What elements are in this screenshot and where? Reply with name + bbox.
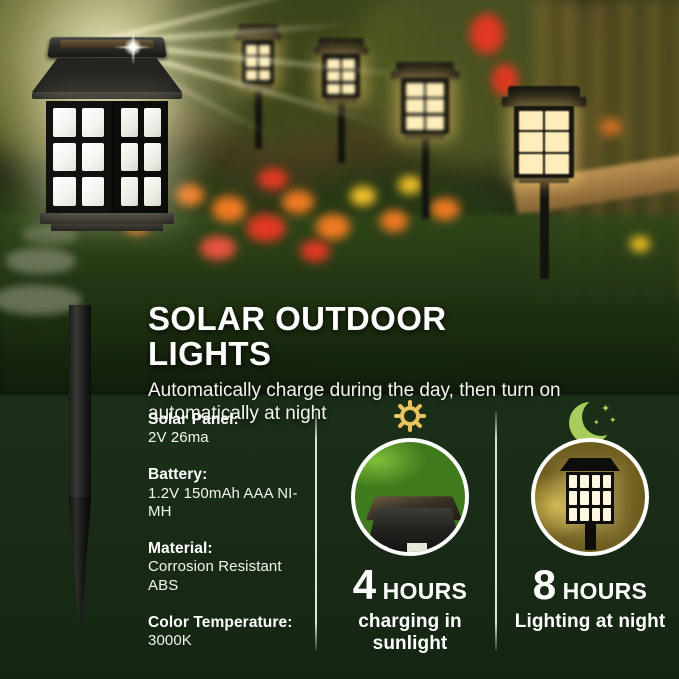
closeup-lantern-roof bbox=[560, 458, 620, 471]
hours-unit: HOURS bbox=[383, 580, 468, 603]
hero-solar-lantern bbox=[32, 36, 182, 231]
flower bbox=[350, 186, 376, 206]
background-lantern bbox=[508, 86, 580, 279]
flower bbox=[200, 236, 236, 260]
stone-path-slab bbox=[6, 248, 76, 274]
spec-value: 1.2V 150mAh AAA NI-MH bbox=[148, 485, 308, 523]
feature-charging: 4 HOURS charging in sunlight bbox=[325, 398, 495, 654]
flower bbox=[246, 214, 286, 242]
lantern-roof bbox=[32, 58, 182, 92]
lantern-base-lower bbox=[51, 224, 163, 231]
closeup-lantern-cage bbox=[566, 472, 614, 524]
lantern-face-side bbox=[114, 101, 168, 213]
spec-key: Color Temperature: bbox=[148, 613, 308, 632]
lantern-pole-lower bbox=[69, 396, 91, 500]
flower bbox=[470, 14, 504, 54]
hours-unit: HOURS bbox=[563, 580, 648, 603]
product-poster: SOLAR OUTDOOR LIGHTS Automatically charg… bbox=[0, 0, 679, 679]
column-divider bbox=[495, 412, 497, 650]
sparkle-icon bbox=[114, 28, 152, 66]
lit-lantern-closeup-photo bbox=[531, 438, 649, 556]
hours-number: 8 bbox=[533, 564, 556, 606]
spec-item-material: Material: Corrosion Resistant ABS bbox=[148, 539, 308, 596]
column-divider bbox=[315, 412, 317, 650]
star-icon: ✦ bbox=[601, 404, 610, 415]
solar-panel-closeup-photo bbox=[351, 438, 469, 556]
lantern-eaves bbox=[32, 92, 182, 99]
flower bbox=[630, 236, 650, 252]
star-icon: ✦ bbox=[609, 416, 617, 425]
charging-description: charging in sunlight bbox=[325, 611, 495, 654]
closeup-lantern bbox=[560, 458, 620, 550]
spec-item-battery: Battery: 1.2V 150mAh AAA NI-MH bbox=[148, 465, 308, 522]
lighting-description: Lighting at night bbox=[505, 611, 675, 633]
charging-hours: 4 HOURS bbox=[325, 564, 495, 606]
flower bbox=[300, 240, 330, 262]
spec-key: Solar Panel: bbox=[148, 410, 308, 429]
lantern-base bbox=[40, 213, 174, 224]
star-icon: ✦ bbox=[593, 419, 600, 427]
spec-value: 3000K bbox=[148, 632, 308, 651]
spec-value: 2V 26ma bbox=[148, 429, 308, 448]
lantern-cap-body bbox=[365, 508, 463, 556]
lantern-face-front bbox=[46, 101, 114, 213]
lighting-hours: 8 HOURS bbox=[505, 564, 675, 606]
spec-item-solar-panel: Solar Panel: 2V 26ma bbox=[148, 410, 308, 448]
background-lantern bbox=[318, 38, 364, 163]
page-title: SOLAR OUTDOOR LIGHTS bbox=[148, 302, 568, 372]
background-lantern bbox=[396, 62, 454, 219]
closeup-lantern-post bbox=[585, 524, 596, 550]
spec-item-color-temperature: Color Temperature: 3000K bbox=[148, 613, 308, 651]
lantern-glass-cage bbox=[46, 101, 168, 213]
feature-lighting: ✦ ✦ ✦ 8 HOURS Lighting at night bbox=[505, 398, 675, 633]
spec-key: Material: bbox=[148, 539, 308, 558]
flower bbox=[282, 190, 314, 214]
spec-key: Battery: bbox=[148, 465, 308, 484]
flower bbox=[600, 118, 622, 136]
sun-ray bbox=[409, 415, 434, 440]
spec-list: Solar Panel: 2V 26ma Battery: 1.2V 150mA… bbox=[148, 410, 308, 668]
flower bbox=[316, 214, 350, 240]
hours-number: 4 bbox=[353, 564, 376, 606]
spec-value: Corrosion Resistant ABS bbox=[148, 558, 308, 596]
